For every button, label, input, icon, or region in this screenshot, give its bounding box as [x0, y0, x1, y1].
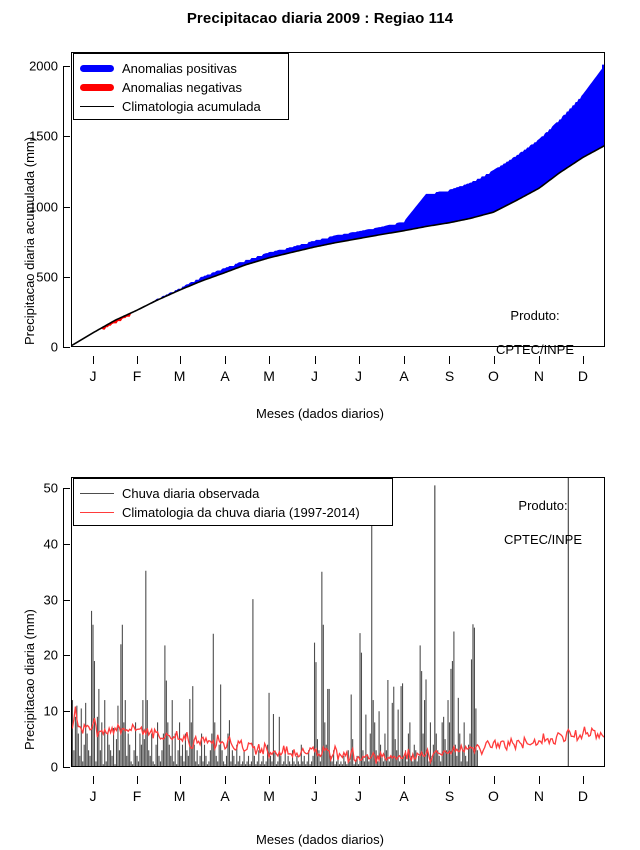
x-tick-mark: [539, 776, 540, 784]
bottom-y-axis-title: Precipitacao diaria (mm): [22, 609, 37, 750]
legend-label: Anomalias positivas: [118, 61, 237, 76]
y-tick-label: 50: [0, 481, 58, 496]
producer-note-top: Produto: CPTEC/INPE: [470, 290, 600, 375]
x-tick-mark: [359, 776, 360, 784]
x-tick-mark: [225, 776, 226, 784]
producer-note-line1: Produto:: [470, 307, 600, 324]
producer-note-bottom: Produto: CPTEC/INPE: [478, 480, 608, 565]
x-tick-mark: [269, 776, 270, 784]
x-tick-label: D: [578, 788, 588, 804]
y-tick-label: 0: [0, 760, 58, 775]
y-tick-mark: [63, 136, 70, 137]
legend-item: Chuva diaria observada: [74, 484, 392, 503]
x-tick-label: M: [174, 788, 186, 804]
top-y-axis-title: Precipitacao diaria acumulada (mm): [22, 137, 37, 345]
producer-note-bottom-line2: CPTEC/INPE: [478, 531, 608, 548]
x-tick-label: M: [174, 368, 186, 384]
x-tick-label: S: [445, 788, 454, 804]
y-tick-mark: [63, 600, 70, 601]
x-tick-mark: [315, 776, 316, 784]
bottom-legend: Chuva diaria observadaClimatologia da ch…: [73, 478, 393, 526]
legend-label: Chuva diaria observada: [118, 486, 259, 501]
accumulated-precipitation-panel: Precipitacao diaria 2009 : Regiao 114 05…: [0, 0, 640, 430]
x-tick-mark: [449, 776, 450, 784]
x-tick-mark: [404, 776, 405, 784]
y-tick-label: 2000: [0, 59, 58, 74]
x-tick-label: F: [133, 788, 142, 804]
legend-label: Anomalias negativas: [118, 80, 242, 95]
x-axis-line: [93, 776, 583, 777]
y-tick-mark: [63, 277, 70, 278]
legend-label: Climatologia acumulada: [118, 99, 261, 114]
legend-swatch-icon: [74, 503, 118, 522]
top-x-axis-title: Meses (dados diarios): [0, 406, 640, 421]
y-tick-mark: [63, 66, 70, 67]
y-tick-label: 30: [0, 592, 58, 607]
y-tick-mark: [63, 767, 70, 768]
daily-precipitation-panel: 01020304050 Precipitacao diaria (mm) JFM…: [0, 430, 640, 850]
x-tick-mark: [359, 356, 360, 364]
y-tick-mark: [63, 207, 70, 208]
x-tick-mark: [449, 356, 450, 364]
x-tick-label: M: [263, 368, 275, 384]
x-tick-label: O: [488, 788, 499, 804]
producer-note-line2: CPTEC/INPE: [470, 341, 600, 358]
y-tick-mark: [63, 711, 70, 712]
x-tick-label: J: [311, 788, 318, 804]
legend-item: Anomalias negativas: [74, 78, 288, 97]
y-axis-line: [63, 488, 64, 767]
x-tick-mark: [404, 356, 405, 364]
legend-swatch-icon: [74, 59, 118, 78]
x-tick-label: A: [220, 788, 229, 804]
y-tick-mark: [63, 488, 70, 489]
x-tick-mark: [180, 356, 181, 364]
x-tick-label: J: [311, 368, 318, 384]
y-tick-mark: [63, 655, 70, 656]
x-tick-label: M: [263, 788, 275, 804]
legend-item: Anomalias positivas: [74, 59, 288, 78]
x-tick-mark: [137, 356, 138, 364]
legend-item: Climatologia da chuva diaria (1997-2014): [74, 503, 392, 522]
x-tick-label: N: [534, 788, 544, 804]
x-tick-mark: [93, 356, 94, 364]
top-legend: Anomalias positivasAnomalias negativasCl…: [73, 53, 289, 120]
x-tick-mark: [93, 776, 94, 784]
x-tick-label: S: [445, 368, 454, 384]
y-tick-label: 40: [0, 536, 58, 551]
x-tick-label: A: [220, 368, 229, 384]
legend-label: Climatologia da chuva diaria (1997-2014): [118, 505, 360, 520]
x-tick-label: J: [90, 788, 97, 804]
y-tick-mark: [63, 544, 70, 545]
figure-root: Precipitacao diaria 2009 : Regiao 114 05…: [0, 0, 640, 850]
x-tick-mark: [269, 356, 270, 364]
x-tick-mark: [180, 776, 181, 784]
producer-note-bottom-line1: Produto:: [478, 497, 608, 514]
x-tick-label: A: [399, 788, 408, 804]
legend-swatch-icon: [74, 97, 118, 116]
x-tick-mark: [494, 776, 495, 784]
bottom-x-axis-title: Meses (dados diarios): [0, 832, 640, 847]
x-tick-label: J: [355, 788, 362, 804]
x-tick-mark: [137, 776, 138, 784]
page-title: Precipitacao diaria 2009 : Regiao 114: [0, 10, 640, 27]
x-tick-label: A: [399, 368, 408, 384]
x-tick-mark: [583, 776, 584, 784]
x-tick-label: J: [90, 368, 97, 384]
x-tick-mark: [225, 356, 226, 364]
x-tick-label: F: [133, 368, 142, 384]
legend-swatch-icon: [74, 78, 118, 97]
legend-item: Climatologia acumulada: [74, 97, 288, 116]
y-tick-mark: [63, 347, 70, 348]
x-tick-mark: [315, 356, 316, 364]
x-tick-label: J: [355, 368, 362, 384]
legend-swatch-icon: [74, 484, 118, 503]
